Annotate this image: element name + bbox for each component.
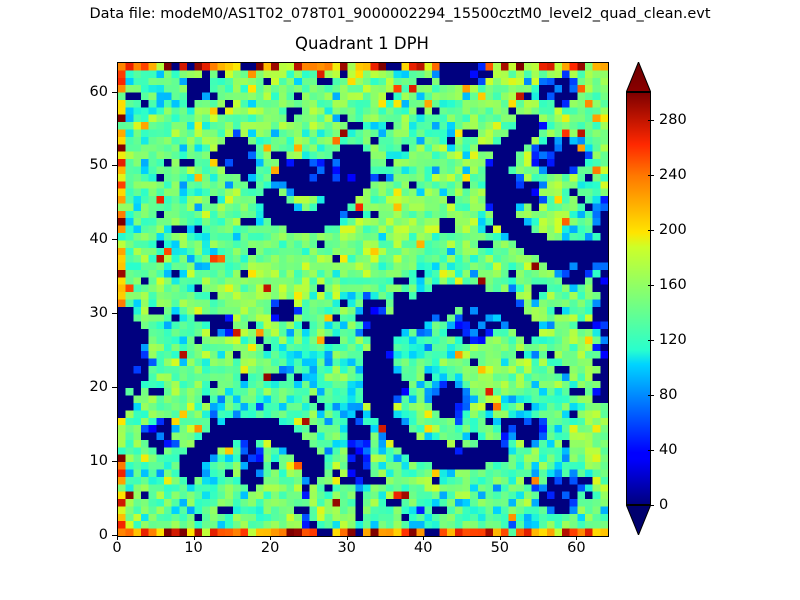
axes-title: Quadrant 1 DPH: [117, 34, 607, 53]
colorbar-tick-label: 240: [659, 167, 687, 183]
colorbar-tick-label: 200: [659, 222, 687, 238]
x-tick-mark: [194, 536, 195, 540]
x-tick-label: 40: [414, 540, 432, 556]
colorbar-extend-min-arrow-icon: [626, 505, 651, 535]
y-tick-label: 10: [90, 453, 108, 469]
x-tick-mark: [117, 536, 118, 540]
dph-heatmap-image[interactable]: [118, 63, 608, 536]
x-tick-label: 20: [261, 540, 279, 556]
colorbar-tick-mark: [648, 285, 654, 286]
colorbar-tick-mark: [648, 120, 654, 121]
colorbar-tick-mark: [648, 505, 654, 506]
colorbar-tick-mark: [648, 340, 654, 341]
colorbar-tick-label: 40: [659, 442, 677, 458]
x-tick-mark: [270, 536, 271, 540]
x-tick-mark: [423, 536, 424, 540]
y-tick-mark: [112, 387, 117, 388]
colorbar-tick-mark: [648, 395, 654, 396]
colorbar-tick-label: 80: [659, 387, 677, 403]
y-tick-mark: [112, 535, 117, 536]
colorbar-extend-max-arrow-icon: [626, 62, 651, 92]
x-tick-mark: [500, 536, 501, 540]
colorbar-tick-mark: [648, 450, 654, 451]
x-tick-label: 0: [112, 540, 121, 556]
x-tick-label: 10: [184, 540, 202, 556]
x-tick-label: 50: [491, 540, 509, 556]
colorbar-tick-mark: [648, 175, 654, 176]
x-tick-mark: [347, 536, 348, 540]
colorbar-tick-label: 280: [659, 112, 687, 128]
y-tick-mark: [112, 165, 117, 166]
y-tick-label: 20: [90, 379, 108, 395]
y-tick-mark: [112, 461, 117, 462]
figure-suptitle: Data file: modeM0/AS1T02_078T01_90000022…: [0, 6, 800, 22]
matplotlib-figure: Data file: modeM0/AS1T02_078T01_90000022…: [0, 0, 800, 600]
dph-image-axes[interactable]: [117, 62, 609, 537]
y-tick-label: 0: [99, 527, 108, 543]
colorbar-tick-mark: [648, 230, 654, 231]
colorbar-gradient: [627, 93, 650, 504]
x-tick-mark: [576, 536, 577, 540]
colorbar-tick-label: 0: [659, 497, 668, 513]
y-tick-label: 30: [90, 305, 108, 321]
colorbar[interactable]: [626, 62, 651, 535]
colorbar-gradient-body[interactable]: [626, 92, 651, 505]
y-tick-mark: [112, 239, 117, 240]
x-tick-label: 60: [567, 540, 585, 556]
y-tick-label: 60: [90, 84, 108, 100]
colorbar-tick-label: 160: [659, 277, 687, 293]
x-tick-label: 30: [337, 540, 355, 556]
y-tick-label: 40: [90, 231, 108, 247]
colorbar-tick-label: 120: [659, 332, 687, 348]
y-tick-mark: [112, 92, 117, 93]
y-tick-mark: [112, 313, 117, 314]
y-tick-label: 50: [90, 157, 108, 173]
